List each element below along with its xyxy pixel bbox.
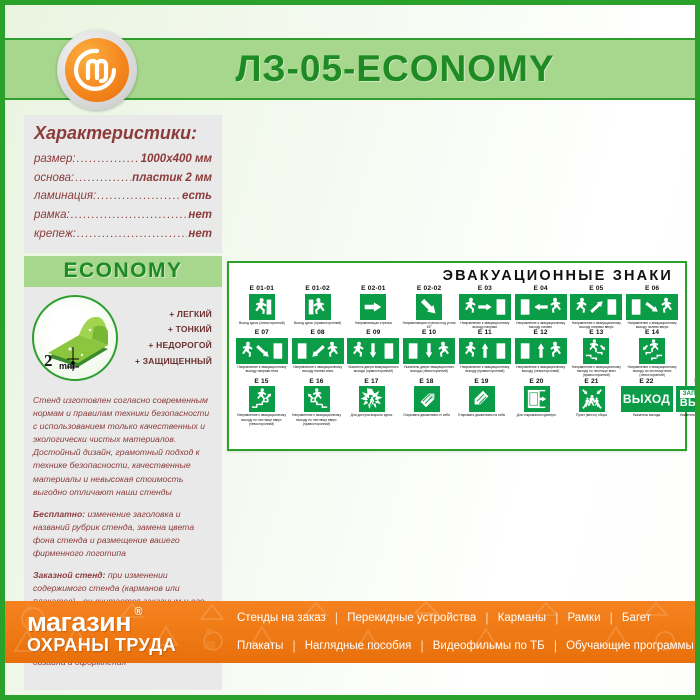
sign-code: E 08 [310,329,324,337]
door-arrow-down-left-man-icon [626,294,678,320]
sign-code: E 01-01 [250,285,275,293]
sign-code: E 15 [254,378,268,386]
spec-row: рамка: .................................… [34,206,212,225]
man-arrow-door-right-icon [459,294,511,320]
sign-caption: Направление к эвакуационному выходу нале… [291,365,344,373]
sign-code: E 01-02 [305,285,330,293]
spec-row: основа: .................... пластик 2 м… [34,169,212,188]
sign-cell: E 03 Направление к эвакуационному выходу… [458,285,512,329]
sign-caption: Выход здесь (левосторонний) [235,321,288,325]
spec-value: есть [182,187,212,206]
sign-caption: Направление к эвакуационному выходу нале… [626,321,679,329]
sign-cell: E 17 Для доступа вскрыть здесь [345,378,398,426]
sign-cell: E 08 Направление к эвакуационному выходу… [291,329,345,377]
running-man-door-right-icon [305,294,331,320]
slide-door-icon [524,386,550,412]
sign-cell: E 13 Направление к эвакуационному выходу… [570,329,624,377]
sign-caption: Указатель двери эвакуационного выхода (п… [347,365,400,373]
sign-code: E 03 [478,285,492,293]
spec-row: ламинация: .............................… [34,187,212,206]
sign-code: E 17 [364,378,378,386]
sign-code: E 02-01 [361,285,386,293]
door-arrow-down-man-icon [403,338,455,364]
sign-cell: E 02-02 Направляющая стрелка под углом 4… [402,285,456,329]
break-glass-icon [359,386,385,412]
brand-logo [57,30,137,110]
door-arrow-left-man-icon [515,294,567,320]
running-man-door-left-icon [249,294,275,320]
sign-row: E 07 Направление к эвакуационному выходу… [235,329,679,377]
sign-cell: E 05 Направление к эвакуационному выходу… [570,285,624,329]
emergency-exit-text-icon: ЗАПАСНЫЙВЫХОД [676,386,700,412]
footer-link[interactable]: Перекидные устройства [338,606,485,631]
sign-caption: Для открывания сдвинуть [510,413,563,417]
stairs-up-man-left-icon [304,386,330,412]
sign-caption: Направление к эвакуационному выходу (лев… [514,365,567,373]
paragraph-lead: Заказной стенд: [33,570,105,580]
specs-panel: Характеристики: размер: ................… [24,115,222,253]
sign-cell: E 14 Направление к эвакуационному выходу… [625,329,679,377]
spec-key: ламинация: [34,187,96,206]
footer-link[interactable]: Плакаты [228,634,292,659]
sign-cell: E 18Открывать движением от себя [400,378,453,426]
sign-cell: E 12 Направление к эвакуационному выходу… [514,329,568,377]
sign-cell: E 16 Направление к эвакуационному выходу… [290,378,343,426]
sign-caption: Направление к эвакуационному выходу по л… [570,365,623,378]
specs-title: Характеристики: [34,123,212,144]
spec-key: основа: [34,169,74,188]
plate-thickness-diagram: 2 mm [32,295,118,381]
sign-cell: E 06 Направление к эвакуационному выходу… [625,285,679,329]
pull-door-to-icon [469,386,495,412]
page-root: ЛЗ-05-ECONOMY Характеристики: размер: ..… [0,0,700,700]
sign-caption: Направление к эвакуационному выходу напр… [235,365,288,373]
sign-cell: E 10 Указатель двери эвакуационного выхо… [402,329,456,377]
sign-code: E 21 [584,378,598,386]
sign-code: E 19 [474,378,488,386]
economy-banner: ECONOMY [24,256,222,287]
sign-code: E 06 [645,285,659,293]
sign-caption: Направление к эвакуационному выходу напр… [458,321,511,329]
site-footer: магазин® ОХРАНЫ ТРУДА Стенды на заказ|Пе… [5,601,695,663]
paragraph-text: Стенд изготовлен согласно современным но… [33,395,209,496]
sign-text: ВЫХОД [680,398,700,409]
spec-dots: ................................... [71,206,188,225]
registered-icon: ® [134,607,142,617]
footer-links-row-1: Стенды на заказ|Перекидные устройства|Ка… [228,604,695,632]
sign-caption: Выход здесь (правосторонний) [291,321,344,325]
sign-code: E 07 [255,329,269,337]
sign-code: E 05 [589,285,603,293]
sign-caption: Направление к эвакуационному выходу нале… [514,321,567,329]
poster-title: ЭВАКУАЦИОННЫЕ ЗНАКИ [235,268,679,284]
spec-value: пластик 2 мм [132,169,212,188]
sign-caption: Направление к эвакуационному выходу по л… [626,365,679,378]
sign-cell: E 01-02 Выход здесь (правосторонний) [291,285,345,329]
sign-cell: E 07 Направление к эвакуационному выходу… [235,329,289,377]
sign-caption: Указатель двери эвакуационного выхода (л… [403,365,456,373]
assembly-point-icon [579,386,605,412]
sign-code: E 11 [478,329,492,337]
stairs-down-man-left-icon [639,338,665,364]
sign-caption: Открывать движением на себя [455,413,508,417]
sign-code: E 16 [309,378,323,386]
man-arrow-up-door-icon [459,338,511,364]
paragraph-lead: Бесплатно: [33,509,85,519]
sign-grid: E 01-01 Выход здесь (левосторонний)E 01-… [235,285,679,426]
sign-code: E 14 [645,329,659,337]
sign-cell: E 09 Указатель двери эвакуационного выхо… [347,329,401,377]
economy-label: ECONOMY [63,259,182,282]
sign-cell: E 11 Направление к эвакуационному выходу… [458,329,512,377]
sign-caption: Направляющая стрелка [347,321,400,325]
spec-dots: .................................. [77,225,187,244]
sign-code: E 04 [533,285,547,293]
sign-text: ВЫХОД [623,392,670,406]
sign-cell: E 21 Пункт (место) сбора [565,378,618,426]
thickness-value: 2 [44,351,53,371]
footer-links-row-2: Плакаты|Наглядные пособия|Видеофильмы по… [228,632,695,660]
sign-code: E 20 [529,378,543,386]
sign-row: E 01-01 Выход здесь (левосторонний)E 01-… [235,285,679,329]
brand-line-2: ОХРАНЫ ТРУДА [27,636,200,655]
spec-row: размер: ..................... 1000х400 м… [34,150,212,169]
sign-cell: E 15 Направление к эвакуационному выходу… [235,378,288,426]
sign-cell: E 23ЗАПАСНЫЙВЫХОДУказатель запасного вых… [675,378,700,426]
sign-row: E 15 Направление к эвакуационному выходу… [235,378,679,426]
spec-dots: ..................... [77,150,140,169]
sign-code: E 18 [419,378,433,386]
feature-item: + ЛЕГКИЙ [118,307,212,323]
sign-caption: Направляющая стрелка под углом 45° [403,321,456,329]
footer-link[interactable]: Стенды на заказ [228,606,335,631]
sign-cell: E 01-01 Выход здесь (левосторонний) [235,285,289,329]
footer-link[interactable]: Рамки [558,606,609,631]
spec-row: крепеж: ................................… [34,225,212,244]
sign-cell: E 04 Направление к эвакуационному выходу… [514,285,568,329]
feature-item: + НЕДОРОГОЙ [118,338,212,354]
footer-link[interactable]: Видеофильмы по ТБ [424,634,554,659]
footer-links: Стенды на заказ|Перекидные устройства|Ка… [200,604,695,660]
spec-value: 1000х400 мм [141,150,212,169]
spec-key: крепеж: [34,225,76,244]
feature-item: + ТОНКИЙ [118,322,212,338]
sign-code: E 02-02 [417,285,442,293]
door-arrow-up-man-icon [515,338,567,364]
sign-cell: E 22ВЫХОДУказатель выхода [620,378,673,426]
brand-line-1: магазин® [27,610,131,636]
spec-value: нет [188,206,212,225]
plate-panel: 2 mm + ЛЕГКИЙ + ТОНКИЙ + НЕДОРОГОЙ + ЗАЩ… [24,287,222,387]
sign-cell: E 02-01 Направляющая стрелка [347,285,401,329]
sign-caption: Указатель выхода [620,413,673,417]
description-paragraph: Стенд изготовлен согласно современным но… [33,394,213,499]
sign-caption: Открывать движением от себя [400,413,453,417]
exit-text-icon: ВЫХОД [621,386,673,412]
sign-cell: E 19Открывать движением на себя [455,378,508,426]
sign-caption: Указатель запасного выхода [675,413,700,417]
stairs-down-man-icon [583,338,609,364]
sign-code: E 13 [589,329,603,337]
stairs-up-man-icon [249,386,275,412]
brand-block: магазин® ОХРАНЫ ТРУДА [5,610,200,655]
sign-code: E 12 [533,329,547,337]
sign-caption: Направление к эвакуационному выходу напр… [570,321,623,329]
push-door-from-icon [414,386,440,412]
man-arrow-down-right-door-icon [236,338,288,364]
spec-key: рамка: [34,206,70,225]
description-paragraph: Бесплатно: изменение заголовка и названи… [33,508,213,560]
feature-list: + ЛЕГКИЙ + ТОНКИЙ + НЕДОРОГОЙ + ЗАЩИЩЕНН… [118,307,214,370]
thickness-unit: mm [59,361,75,371]
sign-code: E 23 [694,378,700,386]
sign-caption: Направление к эвакуационному выходу (пра… [458,365,511,373]
sign-caption: Пункт (место) сбора [565,413,618,417]
footer-link[interactable]: Карманы [489,606,555,631]
m-logo-icon [65,38,129,102]
sign-caption: Направление к эвакуационному выходу по л… [290,413,343,426]
sign-caption: Для доступа вскрыть здесь [345,413,398,417]
spec-value: нет [188,225,212,244]
footer-link[interactable]: Багет [613,606,660,631]
man-arrow-up-right-door-icon [570,294,622,320]
door-arrow-down-left-man-2-icon [292,338,344,364]
sign-code: E 22 [639,378,653,386]
arrow-right-icon [360,294,386,320]
sign-cell: E 20 Для открывания сдвинуть [510,378,563,426]
arrow-diagonal-down-right-icon [416,294,442,320]
brand-name: магазин [27,607,131,637]
sign-code: E 10 [422,329,436,337]
footer-link[interactable]: Наглядные пособия [296,634,421,659]
spec-dots: .............................. [97,187,181,206]
sign-code: E 09 [366,329,380,337]
spec-key: размер: [34,150,76,169]
footer-link[interactable]: Обучающие программы [557,634,695,659]
sign-caption: Направление к эвакуационному выходу по л… [235,413,288,426]
spec-dots: .................... [75,169,131,188]
feature-item: + ЗАЩИЩЕННЫЙ [118,354,212,370]
man-arrow-down-door-icon [347,338,399,364]
evacuation-signs-poster: ЭВАКУАЦИОННЫЕ ЗНАКИ E 01-01 Выход здесь … [227,261,687,451]
